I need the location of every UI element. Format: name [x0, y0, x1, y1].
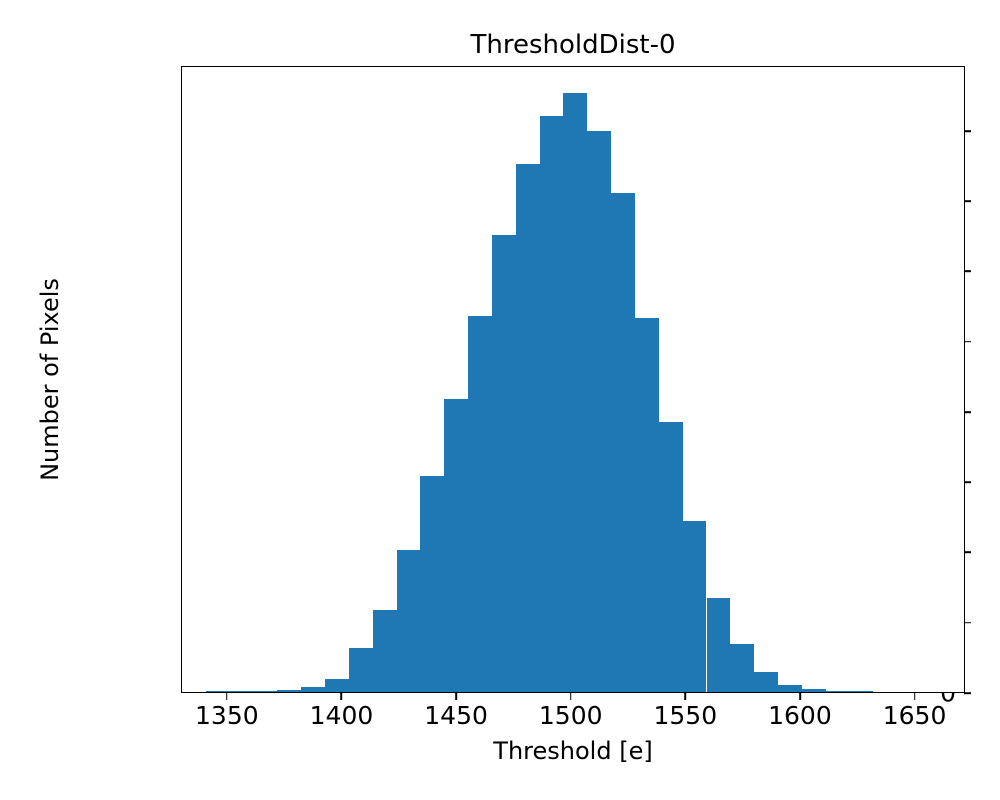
histogram-bar [826, 691, 850, 692]
y-tick-mark [964, 200, 971, 202]
x-tick-mark [341, 693, 343, 700]
histogram-bar [611, 193, 635, 692]
x-axis-label: Threshold [e] [181, 736, 965, 766]
x-tick-label: 1400 [310, 702, 374, 730]
histogram-bar [397, 550, 421, 692]
plot-area [181, 66, 965, 693]
x-tick-label: 1450 [424, 702, 488, 730]
histogram-bar [444, 399, 468, 692]
histogram-bar [325, 679, 349, 692]
y-tick-mark [964, 271, 971, 273]
histogram-bar [230, 691, 254, 692]
x-tick-label: 1500 [539, 702, 603, 730]
histogram-bar [730, 644, 754, 692]
histogram-bar [373, 610, 397, 692]
histogram-bar [707, 598, 731, 692]
histogram-bar [301, 687, 325, 692]
x-tick-label: 1350 [195, 702, 259, 730]
histogram-bar [659, 422, 683, 692]
y-tick-mark [964, 481, 971, 483]
y-tick-mark [964, 341, 971, 343]
y-tick-mark [964, 552, 971, 554]
histogram-bar [563, 93, 587, 692]
histogram-bar [754, 672, 778, 692]
x-tick-label: 1550 [654, 702, 718, 730]
histogram-bar [850, 691, 874, 692]
y-tick-mark [964, 622, 971, 624]
x-tick-mark [914, 693, 916, 700]
x-tick-mark [455, 693, 457, 700]
y-tick-mark [964, 692, 971, 694]
x-tick-mark [685, 693, 687, 700]
histogram-bar [516, 164, 540, 692]
histogram-bar [468, 316, 492, 692]
x-tick-mark [226, 693, 228, 700]
x-tick-mark [570, 693, 572, 700]
histogram-bar [587, 131, 611, 692]
histogram-bar [778, 685, 802, 692]
histogram-bar [349, 648, 373, 692]
x-tick-mark [799, 693, 801, 700]
y-tick-mark [964, 411, 971, 413]
chart-title: ThresholdDist-0 [181, 30, 965, 60]
histogram-bar [254, 691, 278, 692]
y-tick-mark [964, 130, 971, 132]
x-tick-label: 1650 [883, 702, 947, 730]
histogram-bar [802, 689, 826, 692]
histogram-bar [206, 691, 230, 692]
histogram-bar [683, 521, 707, 692]
histogram-bar [420, 476, 444, 692]
histogram-bar [635, 318, 659, 692]
histogram-bars [182, 67, 964, 692]
histogram-bar [540, 116, 564, 692]
histogram-bar [492, 235, 516, 692]
x-tick-label: 1600 [768, 702, 832, 730]
histogram-figure: ThresholdDist-0 Number of Pixels 0200040… [0, 0, 1000, 800]
y-axis-label: Number of Pixels [32, 66, 68, 693]
histogram-bar [277, 690, 301, 692]
